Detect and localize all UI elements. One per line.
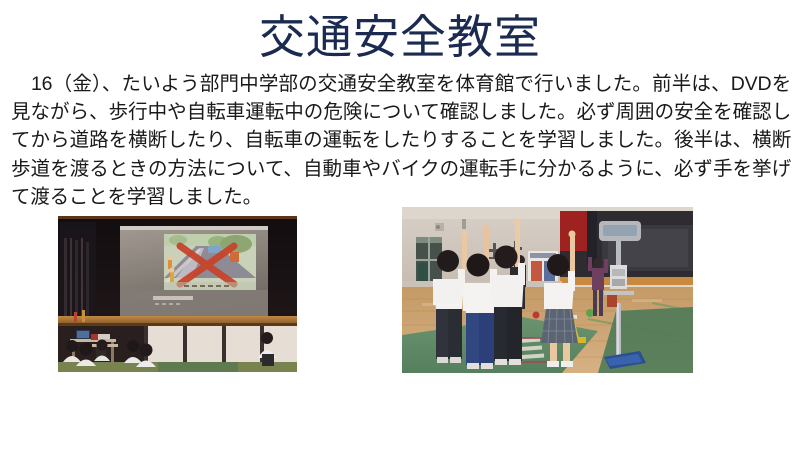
stage-edge <box>58 316 297 324</box>
page-title: 交通安全教室 <box>0 8 800 66</box>
slide-canvas: 交通安全教室 16（金）、たいよう部門中学部の交通安全教室を体育館で行いました。… <box>0 0 800 450</box>
photo-lecture-artwork <box>58 216 297 372</box>
projection-screen <box>120 226 268 320</box>
projected-road-scene <box>164 234 256 290</box>
photo-crosswalk-artwork <box>402 207 693 373</box>
stage-curtain <box>60 222 96 318</box>
body-paragraph: 16（金）、たいよう部門中学部の交通安全教室を体育館で行いました。前半は、DVD… <box>11 70 791 211</box>
photo-lecture <box>58 216 297 372</box>
photo-crosswalk <box>402 207 693 373</box>
